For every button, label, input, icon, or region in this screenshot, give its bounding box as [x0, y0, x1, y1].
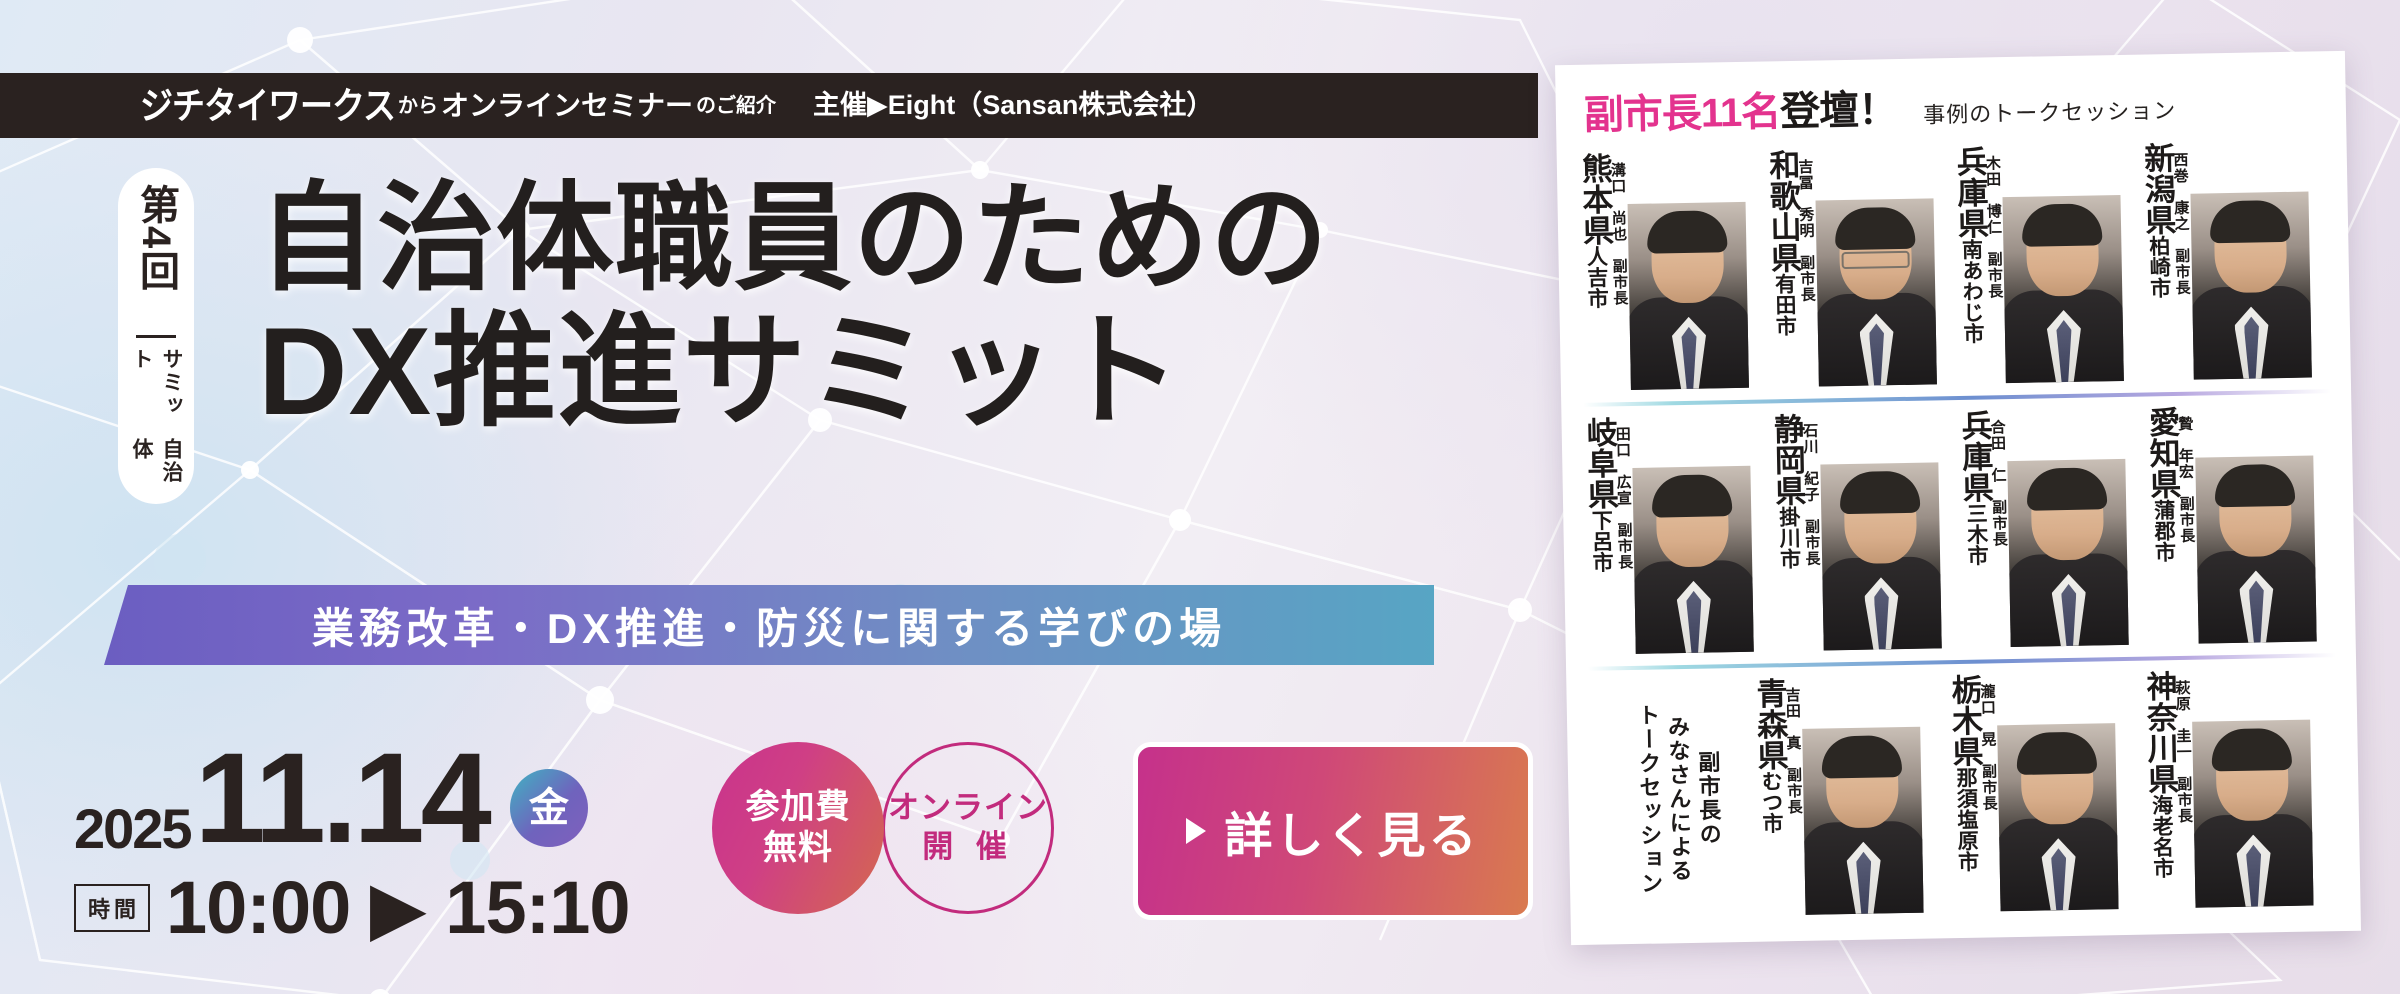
speaker-portrait — [1820, 462, 1941, 650]
speaker-location: 新潟県柏崎市 — [2141, 142, 2175, 299]
speakers-headline-suffix: 登壇！ — [1780, 88, 1898, 134]
speaker-location: 青森県むつ市 — [1753, 677, 1787, 834]
talk-session-note: 副市長のみなさんによるトークセッション — [1601, 674, 1756, 925]
subtitle-ribbon: 業務改革・DX推進・防災に関する学びの場 — [104, 585, 1434, 665]
speaker-portrait — [1802, 727, 1923, 915]
subtitle-text: 業務改革・DX推進・防災に関する学びの場 — [312, 595, 1226, 656]
speaker-portrait — [2002, 195, 2123, 383]
event-year: 2025 — [74, 801, 191, 863]
header-bar: ジチタイワークス から オンラインセミナー のご紹介 主催▶Eight（Sans… — [0, 73, 1538, 138]
details-button[interactable]: 詳しく見る — [1133, 742, 1533, 920]
speaker-item: 熊本県人吉市溝口 尚也 副市長 — [1579, 145, 1769, 396]
time-label: 時間 — [74, 884, 150, 932]
portrait-hair — [1647, 210, 1728, 253]
portrait-hair — [2016, 732, 2097, 775]
edition-number: 第4回 — [135, 184, 177, 327]
speaker-labels: 熊本県人吉市溝口 尚也 副市長 — [1579, 148, 1630, 309]
portrait-hair — [1834, 207, 1915, 250]
speaker-location: 愛知県蒲郡市 — [2146, 406, 2180, 563]
speaker-item: 愛知県蒲郡市贄 年宏 副市長 — [2146, 399, 2336, 650]
header-seminar-text: オンラインセミナー — [441, 92, 693, 120]
speaker-name: 贄 年宏 副市長 — [2177, 406, 2195, 562]
portrait-hair — [2211, 728, 2292, 771]
brand-logo-text: ジチタイワークス — [140, 87, 395, 124]
speaker-name: 吉田 真 副市長 — [1784, 677, 1802, 833]
speaker-portrait — [2190, 192, 2311, 380]
speaker-labels: 神奈川県海老名市萩原 圭一 副市長 — [2143, 666, 2195, 879]
speaker-location: 熊本県人吉市 — [1579, 152, 1613, 309]
speaker-city: 有田市 — [1772, 273, 1796, 336]
speaker-city: 南あわじ市 — [1959, 239, 1984, 344]
speaker-labels: 愛知県蒲郡市贄 年宏 副市長 — [2146, 402, 2197, 563]
free-badge-line-1: 参加費 — [746, 787, 851, 828]
speaker-name: 田口 広宣 副市長 — [1614, 416, 1632, 572]
speaker-labels: 兵庫県南あわじ市木田 博仁 副市長 — [1953, 141, 2005, 344]
portrait-hair — [2026, 467, 2107, 510]
speaker-name: 木田 博仁 副市長 — [1985, 145, 2004, 343]
date-time-block: 2025 11.14 金 時間 10:00 ▶ 15:10 — [74, 735, 630, 945]
details-button-label: 詳しく見る — [1224, 796, 1479, 866]
speaker-portrait — [1997, 723, 2118, 911]
portrait-glasses-icon — [1841, 251, 1909, 269]
speaker-city: むつ市 — [1759, 770, 1783, 833]
speaker-item: 神奈川県海老名市萩原 圭一 副市長 — [2143, 663, 2341, 914]
speaker-location: 岐阜県下呂市 — [1583, 416, 1617, 573]
speaker-item: 青森県むつ市吉田 真 副市長 — [1753, 670, 1951, 921]
speaker-item: 岐阜県下呂市田口 広宣 副市長 — [1583, 409, 1773, 660]
speakers-count-number: 11名 — [1701, 90, 1781, 135]
speaker-portrait — [2195, 455, 2316, 643]
free-admission-badge: 参加費 無料 — [712, 742, 884, 914]
edition-badge: 第4回 自治体 サミット — [118, 168, 194, 504]
badge-divider — [136, 335, 176, 338]
online-event-badge: オンライン 開 催 — [882, 742, 1054, 914]
speaker-labels: 和歌山県有田市吉冨 秀明 副市長 — [1766, 145, 1817, 337]
speaker-city: 柏崎市 — [2147, 235, 2171, 298]
speaker-name: 合田 仁 副市長 — [1989, 409, 2007, 565]
speakers-subheadline: 事例のトークセッション — [1923, 93, 2177, 130]
speaker-labels: 岐阜県下呂市田口 広宣 副市長 — [1583, 412, 1634, 573]
header-intro-text: のご紹介 — [693, 96, 779, 116]
speaker-name: 溝口 尚也 副市長 — [1610, 152, 1628, 308]
portrait-hair — [2209, 200, 2290, 243]
speaker-item: 兵庫県三木市合田 仁 副市長 — [1958, 403, 2148, 654]
speaker-item: 和歌山県有田市吉冨 秀明 副市長 — [1766, 142, 1956, 393]
speaker-item: 静岡県掛川市石川 紀子 副市長 — [1771, 406, 1961, 657]
speakers-row: 新潟県柏崎市西巻 康之 副市長兵庫県南あわじ市木田 博仁 副市長和歌山県有田市吉… — [1579, 135, 2331, 401]
day-of-week-text: 金 — [529, 788, 569, 828]
day-of-week-badge: 金 — [510, 769, 588, 847]
header-host-text: 主催▶Eight（Sansan株式会社） — [779, 92, 1213, 119]
speaker-name: 西巻 康之 副市長 — [2172, 142, 2190, 298]
speakers-row: 愛知県蒲郡市贄 年宏 副市長兵庫県三木市合田 仁 副市長静岡県掛川市石川 紀子 … — [1583, 399, 2335, 665]
speaker-location: 和歌山県有田市 — [1766, 149, 1800, 337]
speaker-item: 栃木県那須塩原市瀧口 晃 副市長 — [1948, 667, 2146, 918]
speaker-portrait — [1628, 202, 1749, 390]
portrait-hair — [1652, 474, 1733, 517]
time-range: 10:00 ▶ 15:10 — [166, 871, 630, 945]
speaker-name: 萩原 圭一 副市長 — [2174, 670, 2193, 878]
portrait-hair — [2022, 203, 2103, 246]
speaker-item: 兵庫県南あわじ市木田 博仁 副市長 — [1953, 139, 2143, 390]
talk-session-note-text: 副市長のみなさんによるトークセッション — [1632, 702, 1725, 896]
speaker-labels: 栃木県那須塩原市瀧口 晃 副市長 — [1948, 669, 2000, 872]
speaker-labels: 兵庫県三木市合田 仁 副市長 — [1958, 405, 2009, 566]
badge-vertical-text: 自治体 サミット — [126, 348, 186, 504]
speakers-grid: 新潟県柏崎市西巻 康之 副市長兵庫県南あわじ市木田 博仁 副市長和歌山県有田市吉… — [1579, 135, 2341, 929]
seminar-banner: ジチタイワークス から オンラインセミナー のご紹介 主催▶Eight（Sans… — [0, 0, 2400, 994]
online-badge-line-2: 開 催 — [922, 828, 1014, 867]
portrait-hair — [1839, 471, 1920, 514]
speaker-item: 新潟県柏崎市西巻 康之 副市長 — [2141, 135, 2331, 386]
speaker-name: 瀧口 晃 副市長 — [1979, 673, 1998, 871]
speaker-portrait — [2192, 720, 2313, 908]
free-badge-line-2: 無料 — [763, 828, 833, 869]
play-triangle-icon — [1186, 818, 1206, 844]
speaker-city: 人吉市 — [1584, 245, 1608, 308]
badge-vertical-right: 自治体 — [126, 438, 186, 504]
title-line-1: 自治体職員のための — [258, 176, 1329, 302]
speaker-labels: 静岡県掛川市石川 紀子 副市長 — [1771, 409, 1822, 570]
header-from-text: から — [395, 96, 441, 116]
speaker-portrait — [1815, 198, 1936, 386]
event-month-day: 11.14 — [195, 735, 488, 863]
page-title: 自治体職員のための DX推進サミット — [258, 176, 1329, 439]
speakers-count-prefix: 副市長 — [1584, 92, 1702, 138]
portrait-hair — [1821, 735, 1902, 778]
speaker-portrait — [2007, 459, 2128, 647]
speakers-card-header: 副市長11名登壇！ 事例のトークセッション — [1577, 69, 2326, 141]
portrait-hair — [2214, 464, 2295, 507]
badge-vertical-left: サミット — [126, 348, 186, 436]
speaker-location: 兵庫県南あわじ市 — [1954, 145, 1989, 344]
speakers-row: 神奈川県海老名市萩原 圭一 副市長栃木県那須塩原市瀧口 晃 副市長青森県むつ市吉… — [1588, 663, 2340, 929]
speaker-city: 蒲郡市 — [2152, 499, 2176, 562]
speaker-city: 那須塩原市 — [1954, 767, 1979, 872]
speaker-city: 三木市 — [1964, 502, 1988, 565]
speaker-city: 掛川市 — [1777, 506, 1801, 569]
title-line-2: DX推進サミット — [258, 306, 1329, 439]
online-badge-line-1: オンライン — [888, 789, 1048, 828]
speaker-location: 栃木県那須塩原市 — [1948, 674, 1983, 873]
speakers-card: 副市長11名登壇！ 事例のトークセッション 新潟県柏崎市西巻 康之 副市長兵庫県… — [1555, 51, 2361, 945]
speaker-city: 海老名市 — [2149, 794, 2174, 878]
speaker-labels: 青森県むつ市吉田 真 副市長 — [1753, 673, 1804, 834]
speaker-name: 吉冨 秀明 副市長 — [1797, 149, 1815, 336]
speaker-name: 石川 紀子 副市長 — [1802, 413, 1820, 569]
speaker-location: 兵庫県三木市 — [1958, 409, 1992, 566]
speaker-city: 下呂市 — [1589, 509, 1613, 572]
speaker-labels: 新潟県柏崎市西巻 康之 副市長 — [2141, 138, 2192, 299]
speaker-location: 静岡県掛川市 — [1771, 413, 1805, 570]
speaker-portrait — [1632, 466, 1753, 654]
